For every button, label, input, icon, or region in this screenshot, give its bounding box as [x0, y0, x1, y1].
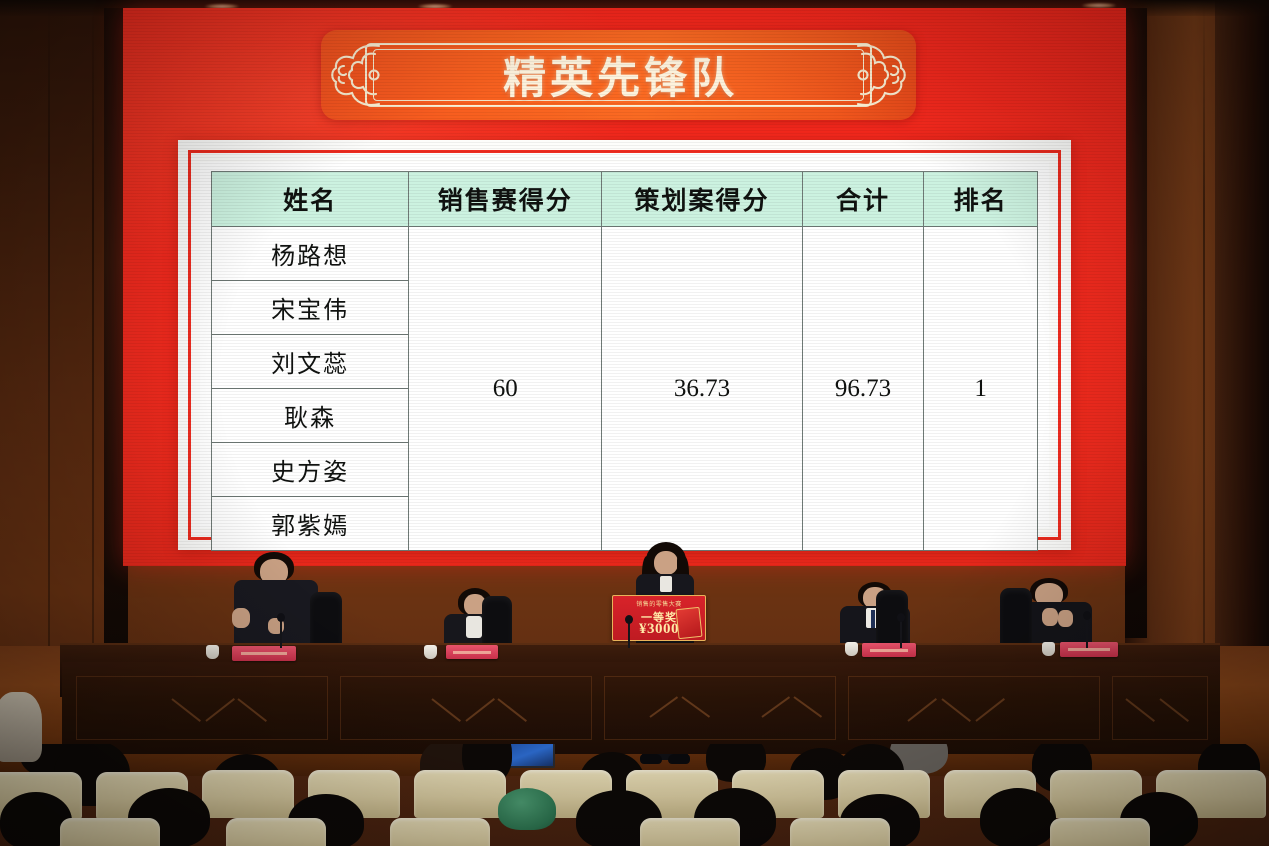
stage-photo: 精英先锋队 姓名 销售赛得分 策划案得分	[0, 0, 1269, 846]
foreground-figure	[0, 692, 42, 762]
auditorium-seat	[414, 770, 506, 818]
water-cup	[424, 645, 437, 659]
auditorium-seat	[1050, 818, 1150, 846]
desk-panel	[848, 676, 1100, 740]
desk-panel	[1112, 676, 1208, 740]
microphone	[1086, 618, 1088, 648]
water-cup	[1042, 642, 1055, 656]
nameplate	[232, 646, 296, 661]
microphone	[628, 622, 630, 648]
nameplate	[862, 643, 916, 657]
desk-panel	[604, 676, 836, 740]
microphone	[900, 620, 902, 648]
green-knit-hat	[498, 788, 556, 830]
nameplate	[1060, 642, 1118, 657]
microphone	[280, 620, 282, 648]
led-screen: 精英先锋队 姓名 销售赛得分 策划案得分	[123, 8, 1126, 566]
auditorium-seat	[790, 818, 890, 846]
wall-seam	[1203, 0, 1205, 690]
auditorium-seat	[226, 818, 326, 846]
audience-head	[980, 788, 1056, 846]
auditorium-seat	[640, 818, 740, 846]
auditorium-seat	[60, 818, 160, 846]
head-table-front-panel	[62, 662, 1220, 754]
water-cup	[845, 642, 858, 656]
laptop-screen	[505, 744, 555, 768]
right-wall-edge	[1215, 0, 1269, 690]
desk-panel	[340, 676, 592, 740]
auditorium-seat	[202, 770, 294, 818]
chair	[310, 592, 342, 648]
audience-area	[0, 744, 1269, 846]
desk-panel	[76, 676, 328, 740]
auditorium-seat	[390, 818, 490, 846]
wall-seam	[48, 0, 50, 700]
chair	[482, 596, 512, 648]
led-pixel-grain	[123, 8, 1126, 566]
red-envelope-icon	[675, 607, 702, 639]
wall-seam	[92, 0, 94, 700]
chair	[1000, 588, 1032, 646]
water-cup	[206, 645, 219, 659]
backstage-gap-right	[1125, 8, 1147, 638]
nameplate	[446, 645, 498, 659]
